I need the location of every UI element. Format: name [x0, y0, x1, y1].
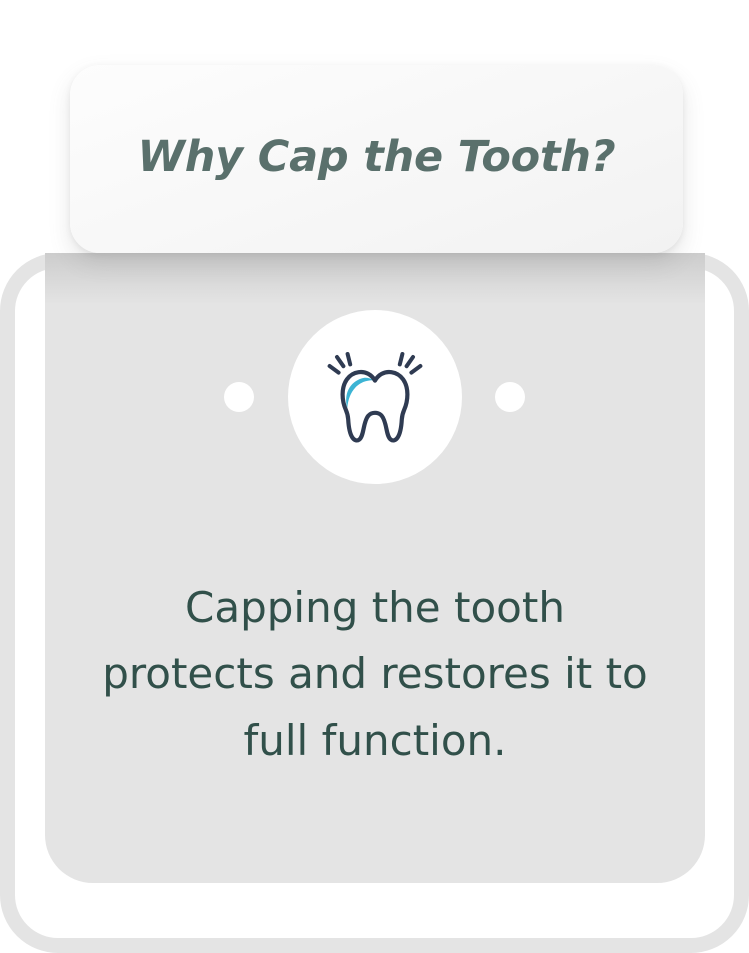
- decorative-dot-right: [495, 382, 525, 412]
- icon-row: [45, 310, 705, 486]
- header-pill: Why Cap the Tooth?: [70, 65, 683, 253]
- sparkling-tooth-icon: [317, 339, 433, 455]
- decorative-dot-left: [224, 382, 254, 412]
- page-title: Why Cap the Tooth?: [137, 136, 615, 183]
- body-text: Capping the tooth protects and restores …: [95, 575, 655, 774]
- tooth-icon-disc: [288, 310, 462, 484]
- slide-stage: Why Cap the Tooth?: [0, 0, 749, 930]
